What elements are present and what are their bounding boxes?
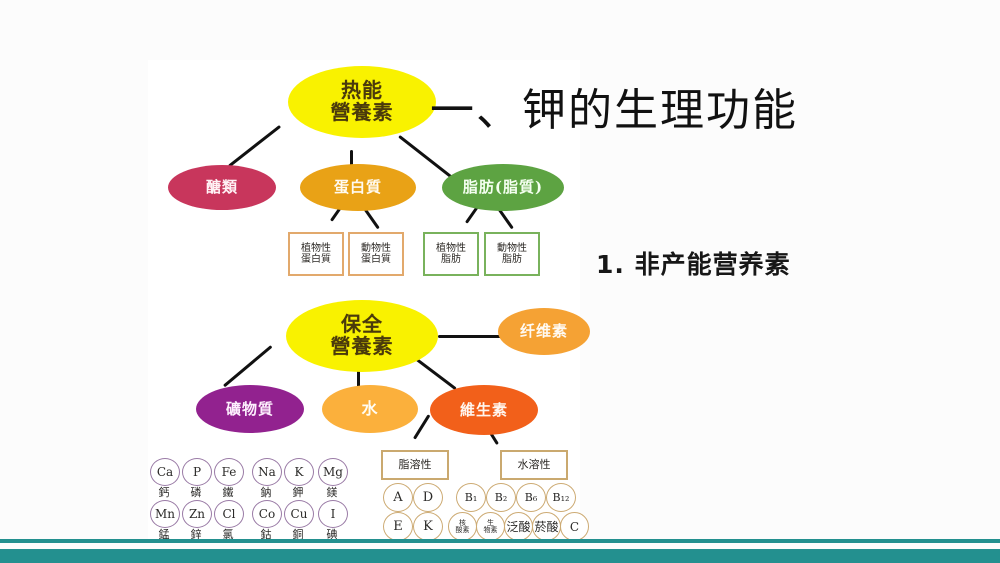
mineral-symbol-na: Na (252, 458, 282, 486)
box-water-soluble: 水溶性 (500, 450, 568, 480)
mineral-symbol-cl: Cl (214, 500, 244, 528)
connector-protective-to-mineral (223, 345, 272, 387)
mineral-symbol-k: K (284, 458, 314, 486)
mineral-symbol-mg: Mg (318, 458, 348, 486)
box-animal-fat: 動物性 脂肪 (484, 232, 540, 276)
mineral-name-mg: 鎂 (318, 484, 346, 500)
slide-subtitle: 1. 非产能营养素 (596, 245, 791, 281)
node-energy-root: 热能 營養素 (288, 66, 436, 138)
vitamin-water-extra-4: 菸酸 (532, 512, 561, 541)
node-water: 水 (322, 385, 418, 433)
node-vitamin: 維生素 (430, 385, 538, 435)
mineral-name-p: 磷 (182, 484, 210, 500)
box-plant-protein: 植物性 蛋白質 (288, 232, 344, 276)
connector-fat-to-animal (498, 208, 514, 229)
node-fiber: 纤维素 (498, 308, 590, 355)
mineral-symbol-fe: Fe (214, 458, 244, 486)
mineral-symbol-ca: Ca (150, 458, 180, 486)
mineral-name-na: 鈉 (252, 484, 280, 500)
connector-protective-to-fiber (438, 335, 501, 338)
vitamin-water-extra-3: 泛酸 (504, 512, 533, 541)
vitamin-fat-a: A (383, 483, 413, 512)
mineral-name-ca: 鈣 (150, 484, 178, 500)
vitamin-water-b4: B₁₂ (546, 483, 576, 512)
mineral-name-fe: 鐵 (214, 484, 242, 500)
slide-canvas: 热能 營養素 醣類 蛋白質 脂肪(脂質) 植物性 蛋白質 動物性 蛋白質 植物性… (0, 0, 1000, 563)
footer-accent-bar (0, 549, 1000, 563)
vitamin-fat-d: D (413, 483, 443, 512)
mineral-symbol-i: I (318, 500, 348, 528)
box-fat-soluble: 脂溶性 (381, 450, 449, 480)
mineral-name-k: 鉀 (284, 484, 312, 500)
node-sugar: 醣類 (168, 165, 276, 210)
mineral-symbol-co: Co (252, 500, 282, 528)
page-title: 一、钾的生理功能 (430, 74, 798, 138)
vitamin-fat-e: E (383, 512, 413, 541)
mineral-symbol-zn: Zn (182, 500, 212, 528)
connector-energy-to-sugar (228, 125, 281, 167)
vitamin-water-extra-1: 核 酸素 (448, 512, 477, 541)
box-animal-protein: 動物性 蛋白質 (348, 232, 404, 276)
node-mineral: 礦物質 (196, 385, 304, 433)
vitamin-water-extra-2: 生 物素 (476, 512, 505, 541)
vitamin-fat-k: K (413, 512, 443, 541)
node-protein: 蛋白質 (300, 164, 416, 211)
node-fat: 脂肪(脂質) (442, 164, 564, 211)
connector-protein-to-animal (364, 208, 380, 229)
mineral-symbol-cu: Cu (284, 500, 314, 528)
node-protective-root: 保全 營養素 (286, 300, 438, 372)
vitamin-water-extra-5: C (560, 512, 589, 541)
connector-vitamin-to-fatsoluble (413, 414, 430, 439)
vitamin-water-b3: B₆ (516, 483, 546, 512)
mineral-symbol-mn: Mn (150, 500, 180, 528)
footer-accent-line (0, 539, 1000, 543)
box-plant-fat: 植物性 脂肪 (423, 232, 479, 276)
vitamin-water-b2: B₂ (486, 483, 516, 512)
mineral-symbol-p: P (182, 458, 212, 486)
vitamin-water-b1: B₁ (456, 483, 486, 512)
